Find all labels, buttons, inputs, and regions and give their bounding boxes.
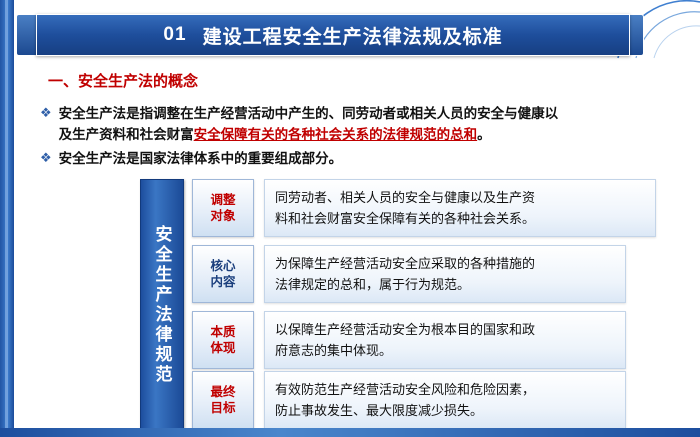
row-4-tag-line1: 最终 [210, 384, 235, 400]
content-row-1: 调整 对象 同劳动者、相关人员的安全与健康以及生产资 料和社会财富安全保障有关的… [192, 179, 656, 237]
vertical-title-box: 安全生产法律规范 [140, 179, 184, 431]
content-row-2: 核心 内容 为保障生产经营活动安全应采取的各种措施的 法律规定的总和，属于行为规… [192, 245, 626, 303]
row-3-content-text: 以保障生产经营活动安全为根本目的国家和政 府意志的集中体现。 [275, 319, 535, 361]
page-title: 建设工程安全生产法律法规及标准 [203, 22, 503, 49]
bottom-decorative-strip [0, 428, 700, 437]
row-4-content-text: 有效防范生产经营活动安全风险和危险因素， 防止事故发生、最大限度减少损失。 [275, 379, 535, 421]
row-1-tag-line2: 对象 [210, 208, 235, 224]
title-number: 01 [163, 24, 186, 46]
row-4-tag-line2: 目标 [210, 400, 235, 416]
row-2-content-text: 为保障生产经营活动安全应采取的各种措施的 法律规定的总和，属于行为规范。 [275, 253, 535, 295]
row-1-line2: 料和社会财富安全保障有关的各种社会关系。 [275, 211, 535, 226]
bullet-item-1: ❖ 安全生产法是指调整在生产经营活动中产生的、同劳动者或相关人员的安全与健康以 … [40, 103, 670, 145]
left-decorative-bar [0, 0, 14, 437]
row-1-tag-line1: 调整 [210, 192, 235, 208]
bullet-item-2: ❖ 安全生产法是国家法律体系中的重要组成部分。 [40, 148, 670, 169]
vertical-title-text: 安全生产法律规范 [149, 225, 176, 385]
row-1-tag: 调整 对象 [192, 179, 254, 237]
row-4-line2: 防止事故发生、最大限度减少损失。 [275, 403, 483, 418]
row-3-tag-line1: 本质 [210, 324, 235, 340]
row-2-line2: 法律规定的总和，属于行为规范。 [275, 277, 470, 292]
content-row-3: 本质 体现 以保障生产经营活动安全为根本目的国家和政 府意志的集中体现。 [192, 311, 626, 369]
row-4-line1: 有效防范生产经营活动安全风险和危险因素， [275, 382, 535, 397]
content-row-4: 最终 目标 有效防范生产经营活动安全风险和危险因素， 防止事故发生、最大限度减少… [192, 371, 626, 429]
bullet-1-line2-a: 及生产资料和社会财富 [59, 127, 194, 142]
row-2-tag: 核心 内容 [192, 245, 254, 303]
row-3-line1: 以保障生产经营活动安全为根本目的国家和政 [275, 322, 535, 337]
left-bar-highlight [5, 0, 8, 437]
bullet-item-1-text: 安全生产法是指调整在生产经营活动中产生的、同劳动者或相关人员的安全与健康以 及生… [59, 103, 559, 145]
row-3-tag-line2: 体现 [210, 340, 235, 356]
bullet-1-line2-emphasis: 安全保障有关的各种社会关系的法律规范的总和 [194, 127, 478, 142]
row-1-line1: 同劳动者、相关人员的安全与健康以及生产资 [275, 190, 535, 205]
row-3-content: 以保障生产经营活动安全为根本目的国家和政 府意志的集中体现。 [264, 311, 626, 369]
slide: 01 建设工程安全生产法律法规及标准 一、安全生产法的概念 ❖ 安全生产法是指调… [0, 0, 700, 437]
bullet-1-line2-c: 。 [477, 127, 491, 142]
diamond-bullet-icon: ❖ [40, 103, 52, 122]
section-heading: 一、安全生产法的概念 [48, 70, 198, 91]
row-2-line1: 为保障生产经营活动安全应采取的各种措施的 [275, 256, 535, 271]
row-2-tag-line1: 核心 [210, 258, 235, 274]
row-2-tag-line2: 内容 [210, 274, 235, 290]
row-1-content-text: 同劳动者、相关人员的安全与健康以及生产资 料和社会财富安全保障有关的各种社会关系… [275, 187, 535, 229]
row-3-line2: 府意志的集中体现。 [275, 343, 392, 358]
bullet-item-2-text: 安全生产法是国家法律体系中的重要组成部分。 [59, 148, 343, 169]
row-1-content: 同劳动者、相关人员的安全与健康以及生产资 料和社会财富安全保障有关的各种社会关系… [264, 179, 656, 237]
row-4-content: 有效防范生产经营活动安全风险和危险因素， 防止事故发生、最大限度减少损失。 [264, 371, 626, 429]
diamond-bullet-icon: ❖ [40, 148, 52, 167]
row-3-tag: 本质 体现 [192, 311, 254, 369]
row-4-tag: 最终 目标 [192, 371, 254, 429]
bullet-1-line1: 安全生产法是指调整在生产经营活动中产生的、同劳动者或相关人员的安全与健康以 [59, 106, 559, 121]
slide-title-banner: 01 建设工程安全生产法律法规及标准 [36, 14, 630, 56]
row-2-content: 为保障生产经营活动安全应采取的各种措施的 法律规定的总和，属于行为规范。 [264, 245, 626, 303]
